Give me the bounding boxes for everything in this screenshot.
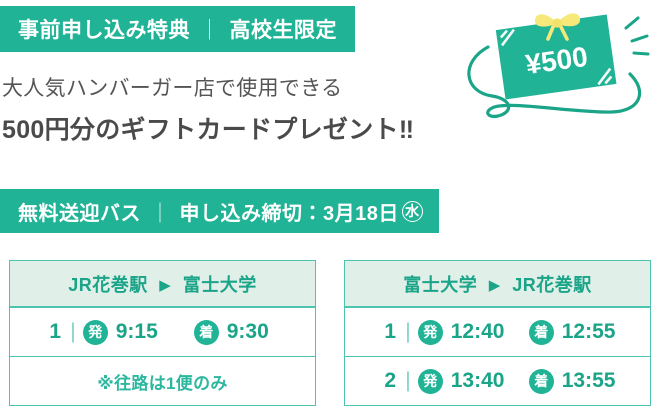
arrive-badge-icon: 着 [194,320,219,345]
depart-badge-icon: 発 [418,320,443,345]
trip-number: 1 [377,320,403,344]
headline-line-1: 大人気ハンバーガー店で使用できる [2,72,342,102]
route-arrow-icon: ▶ [153,277,177,294]
route-arrow-icon: ▶ [483,277,507,294]
departure-leg: 発 9:15 [83,320,172,345]
route-origin: 富士大学 [403,275,477,295]
departure-leg: 発 13:40 [418,369,507,394]
promo-banner-text-right: 高校生限定 [230,14,338,44]
arrive-time: 12:55 [562,320,618,344]
departure-leg: 発 12:40 [418,320,507,345]
bus-banner-service-label: 無料送迎バス [18,197,141,226]
row-divider: | [68,320,82,344]
row-divider: | [403,320,417,344]
route-origin: JR花巻駅 [68,275,148,295]
depart-time: 13:40 [451,369,507,393]
table-row: 1 | 発 9:15 着 9:30 [10,308,315,357]
arrive-badge-icon: 着 [529,320,554,345]
trip-number: 1 [42,320,68,344]
weekday-circled-badge: 水 [402,201,423,222]
arrival-leg: 着 13:55 [529,369,618,394]
route-destination: JR花巻駅 [512,275,592,295]
promo-banner-separator: ｜ [190,14,230,44]
promo-banner: 事前申し込み特典 ｜ 高校生限定 [0,6,355,52]
depart-badge-icon: 発 [418,369,443,394]
trip-number: 2 [377,369,403,393]
gift-card-illustration: ¥500 [452,0,661,135]
promo-banner-text-left: 事前申し込み特典 [18,14,190,44]
depart-time: 9:15 [116,320,172,344]
headline-line-2: 500円分のギフトカードプレゼント‼ [2,110,414,146]
arrive-time: 9:30 [227,320,283,344]
route-destination: 富士大学 [183,275,257,295]
depart-badge-icon: 発 [83,320,108,345]
schedule-table-outbound: JR花巻駅 ▶ 富士大学 1 | 発 9:15 着 9:30 ※往路は1便のみ [9,260,316,406]
schedule-note-outbound: ※往路は1便のみ [10,357,315,405]
arrive-time: 13:55 [562,369,618,393]
table-row: 1 | 発 12:40 着 12:55 [345,308,650,357]
arrival-leg: 着 12:55 [529,320,618,345]
row-divider: | [403,369,417,393]
bus-banner-deadline-label: 申し込み締切：3月18日 [180,197,399,226]
schedule-header-inbound: 富士大学 ▶ JR花巻駅 [345,261,650,308]
gift-card-icon: ¥500 [452,0,661,135]
arrival-leg: 着 9:30 [194,320,283,345]
sparkle-lines [626,18,648,54]
depart-time: 12:40 [451,320,507,344]
schedule-header-outbound: JR花巻駅 ▶ 富士大学 [10,261,315,308]
bus-banner-separator: ｜ [141,197,180,226]
arrive-badge-icon: 着 [529,369,554,394]
table-row: 2 | 発 13:40 着 13:55 [345,357,650,405]
bus-banner: 無料送迎バス ｜ 申し込み締切：3月18日 水 [0,189,439,233]
schedule-table-inbound: 富士大学 ▶ JR花巻駅 1 | 発 12:40 着 12:55 2 | 発 1… [344,260,651,406]
